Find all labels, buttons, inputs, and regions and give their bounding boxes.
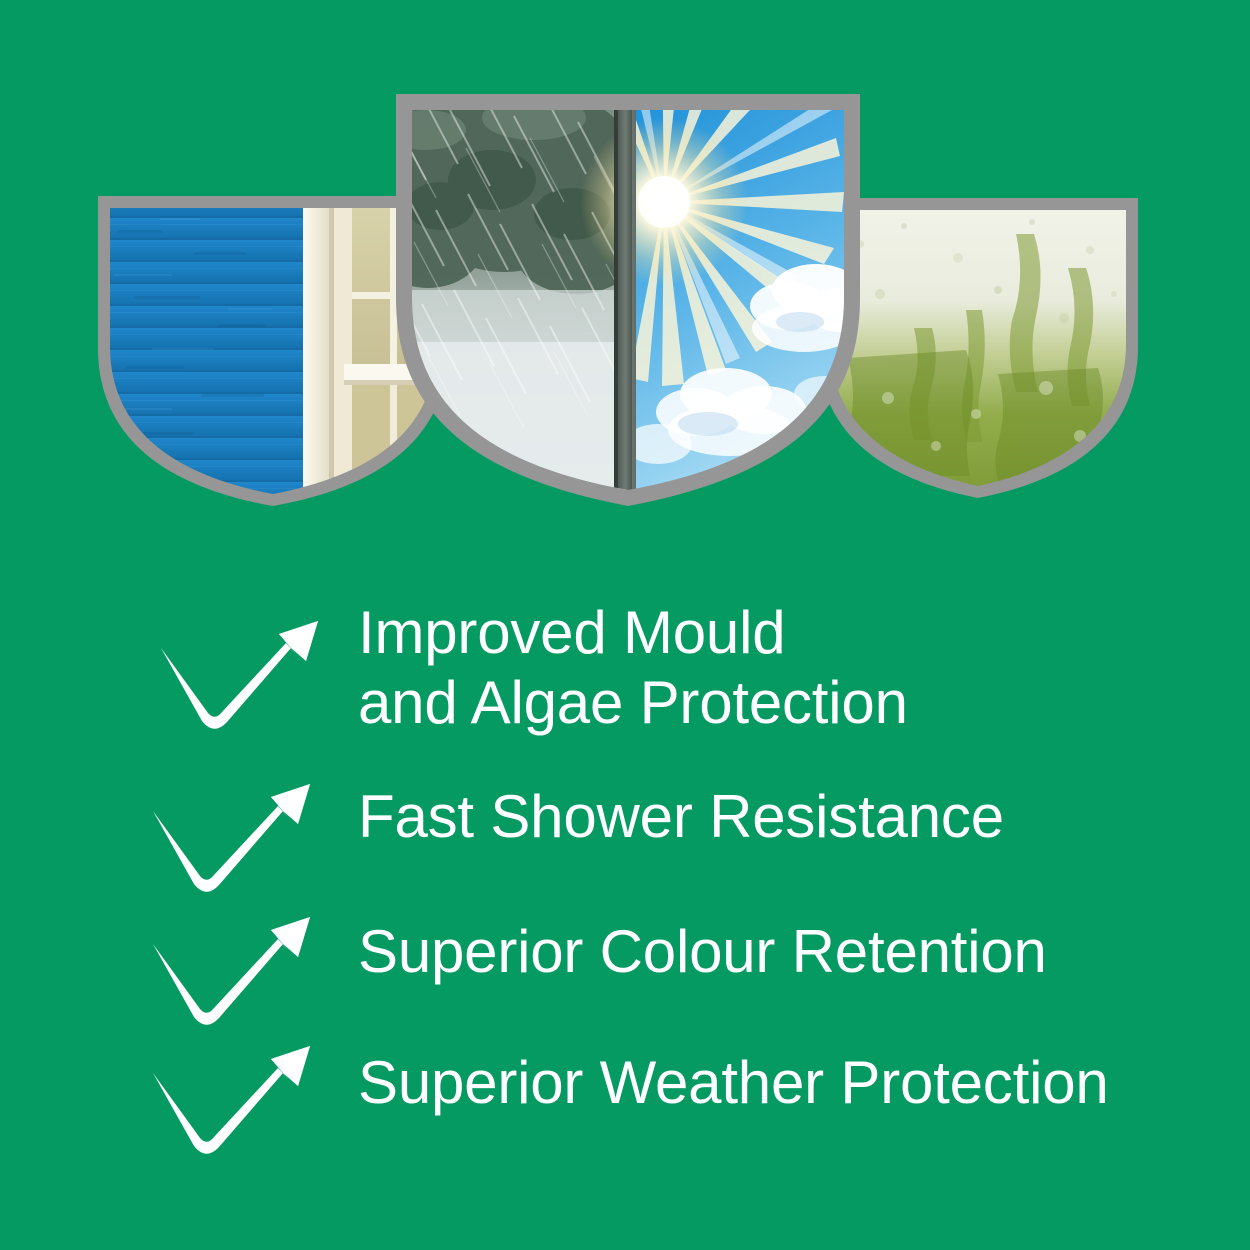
list-item-label: Superior Weather Protection <box>358 1048 1109 1118</box>
list-item-label: Fast Shower Resistance <box>358 782 1004 852</box>
shield-group <box>0 0 1250 560</box>
list-item-label: Improved Mould and Algae Protection <box>358 598 908 737</box>
check-arrow-icon <box>150 908 320 1028</box>
check-arrow-icon <box>150 775 320 895</box>
check-arrow-icon <box>158 612 328 732</box>
shield-photo-algae <box>818 198 1138 498</box>
list-item-label: Superior Colour Retention <box>358 917 1047 987</box>
shield-algae <box>818 198 1138 498</box>
promo-poster: Improved Mould and Algae Protection Fast… <box>0 0 1250 1250</box>
check-arrow-icon <box>150 1037 320 1157</box>
shield-weather <box>396 94 860 506</box>
